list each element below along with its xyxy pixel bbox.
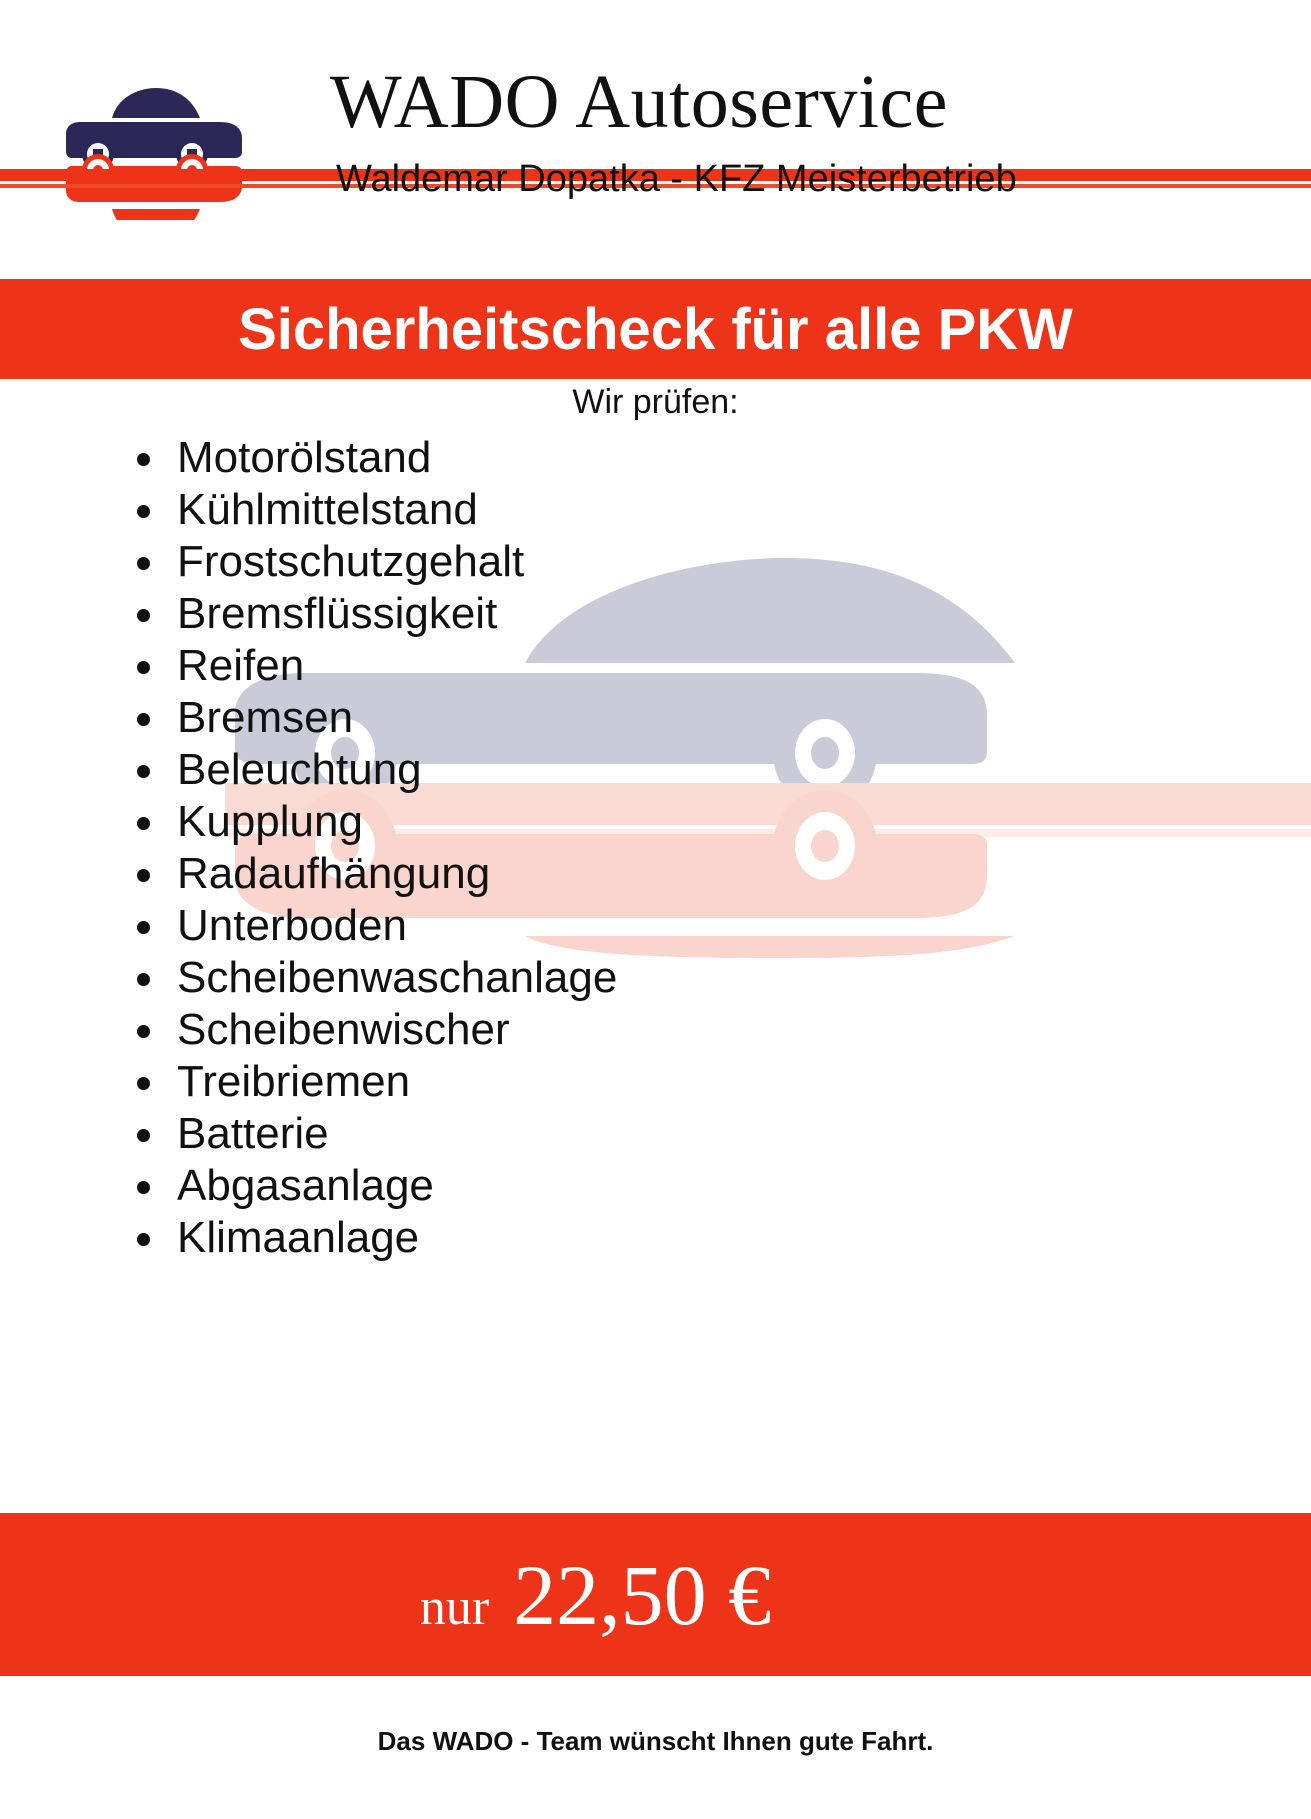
checklist-subheading: Wir prüfen: bbox=[0, 383, 1311, 422]
list-item-label: Unterboden bbox=[177, 901, 407, 950]
list-item-label: Kupplung bbox=[177, 797, 363, 846]
list-item-label: Kühlmittelstand bbox=[177, 485, 478, 534]
bullet-icon bbox=[137, 1233, 150, 1246]
list-item-label: Bremsen bbox=[177, 693, 353, 742]
list-item: Scheibenwaschanlage bbox=[137, 952, 1257, 1004]
bullet-icon bbox=[137, 1181, 150, 1194]
list-item: Kupplung bbox=[137, 796, 1257, 848]
price-amount: 22,50 € bbox=[513, 1545, 771, 1645]
price-group: nur 22,50 € bbox=[420, 1545, 771, 1645]
bullet-icon bbox=[137, 869, 150, 882]
list-item-label: Batterie bbox=[177, 1109, 329, 1158]
list-item: Kühlmittelstand bbox=[137, 484, 1257, 536]
list-item: Bremsen bbox=[137, 692, 1257, 744]
bullet-icon bbox=[137, 609, 150, 622]
bullet-icon bbox=[137, 1025, 150, 1038]
list-item: Abgasanlage bbox=[137, 1160, 1257, 1212]
list-item: Motorölstand bbox=[137, 432, 1257, 484]
bullet-icon bbox=[137, 1129, 150, 1142]
list-item: Frostschutzgehalt bbox=[137, 536, 1257, 588]
bullet-icon bbox=[137, 505, 150, 518]
brand-subtitle: Waldemar Dopatka - KFZ Meisterbetrieb bbox=[336, 160, 1017, 198]
list-item: Beleuchtung bbox=[137, 744, 1257, 796]
list-item-label: Bremsflüssigkeit bbox=[177, 589, 497, 638]
list-item-label: Scheibenwaschanlage bbox=[177, 953, 617, 1002]
bullet-icon bbox=[137, 817, 150, 830]
bullet-icon bbox=[137, 973, 150, 986]
list-item-label: Frostschutzgehalt bbox=[177, 537, 524, 586]
bullet-icon bbox=[137, 765, 150, 778]
page-header: WADO Autoservice Waldemar Dopatka - KFZ … bbox=[0, 0, 1311, 262]
list-item-label: Klimaanlage bbox=[177, 1213, 419, 1262]
list-item: Treibriemen bbox=[137, 1056, 1257, 1108]
list-item-label: Abgasanlage bbox=[177, 1161, 434, 1210]
list-item-label: Scheibenwischer bbox=[177, 1005, 510, 1054]
bullet-icon bbox=[137, 921, 150, 934]
list-item: Scheibenwischer bbox=[137, 1004, 1257, 1056]
list-item: Bremsflüssigkeit bbox=[137, 588, 1257, 640]
title-banner-text: Sicherheitscheck für alle PKW bbox=[238, 296, 1073, 363]
car-logo-icon bbox=[52, 70, 252, 220]
list-item: Reifen bbox=[137, 640, 1257, 692]
list-item-label: Beleuchtung bbox=[177, 745, 422, 794]
list-item-label: Motorölstand bbox=[177, 433, 431, 482]
bullet-icon bbox=[137, 557, 150, 570]
list-item: Klimaanlage bbox=[137, 1212, 1257, 1264]
list-item-label: Reifen bbox=[177, 641, 304, 690]
checklist: Motorölstand Kühlmittelstand Frostschutz… bbox=[137, 432, 1257, 1264]
flyer-page: WADO Autoservice Waldemar Dopatka - KFZ … bbox=[0, 0, 1311, 1819]
footer-text: Das WADO - Team wünscht Ihnen gute Fahrt… bbox=[0, 1726, 1311, 1757]
price-banner: nur 22,50 € bbox=[0, 1513, 1311, 1676]
list-item-label: Treibriemen bbox=[177, 1057, 410, 1106]
title-banner: Sicherheitscheck für alle PKW bbox=[0, 279, 1311, 379]
brand-title: WADO Autoservice bbox=[330, 64, 948, 140]
bullet-icon bbox=[137, 453, 150, 466]
bullet-icon bbox=[137, 661, 150, 674]
bullet-icon bbox=[137, 1077, 150, 1090]
bullet-icon bbox=[137, 713, 150, 726]
price-prefix: nur bbox=[420, 1578, 489, 1637]
list-item: Batterie bbox=[137, 1108, 1257, 1160]
list-item-label: Radaufhängung bbox=[177, 849, 490, 898]
list-item: Radaufhängung bbox=[137, 848, 1257, 900]
list-item: Unterboden bbox=[137, 900, 1257, 952]
